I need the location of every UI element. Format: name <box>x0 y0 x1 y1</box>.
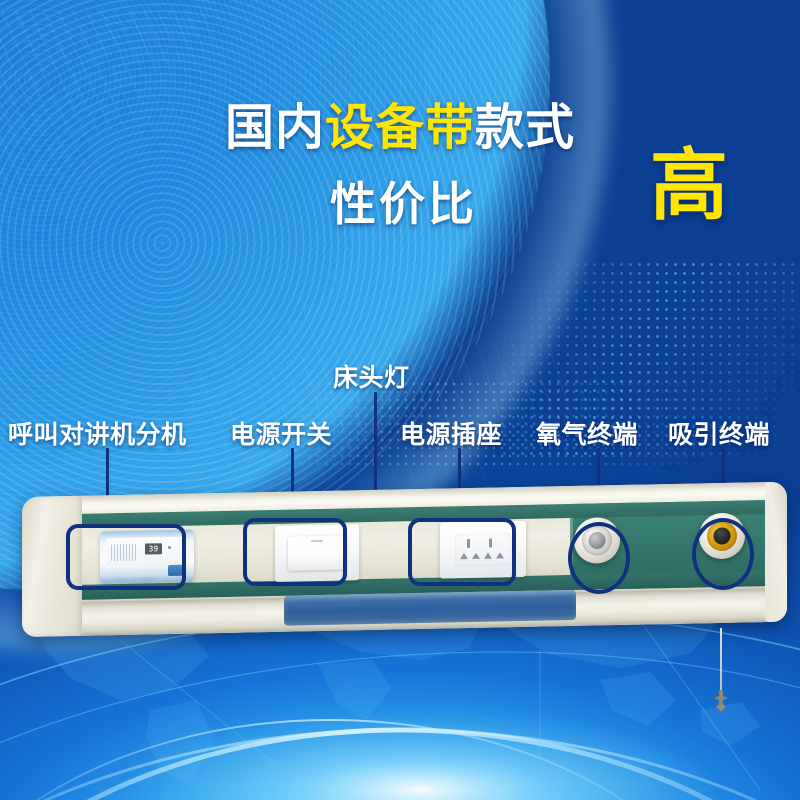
highlight-intercom <box>66 524 186 590</box>
callout-label-bed-lamp: 床头灯 <box>333 358 410 394</box>
headline-suffix: 款式 <box>475 101 575 155</box>
headline-keyword: 设备带 <box>325 101 475 155</box>
cord-cross-hook-icon <box>712 690 730 712</box>
headline-emphasis-word: 高 <box>650 146 728 224</box>
pull-cord[interactable] <box>720 628 722 696</box>
highlight-oxygen-terminal <box>568 522 630 594</box>
callout-label-suction-terminal: 吸引终端 <box>668 415 770 451</box>
headline-prefix: 国内 <box>225 101 325 155</box>
headline-line-2: 性价比 <box>330 168 477 234</box>
callout-label-power-socket: 电源插座 <box>400 415 502 451</box>
bed-lamp-diffuser[interactable] <box>284 590 576 626</box>
callout-label-power-switch: 电源开关 <box>230 415 332 451</box>
headline-block: 国内设备带款式 性价比 高 <box>0 0 800 250</box>
callout-label-oxygen-terminal: 氧气终端 <box>536 415 638 451</box>
highlight-power-switch <box>243 518 347 586</box>
panel-end-cap-right <box>765 482 787 622</box>
highlight-suction-terminal <box>692 518 754 590</box>
callout-label-intercom: 呼叫对讲机分机 <box>8 415 187 451</box>
highlight-power-socket <box>408 518 516 586</box>
